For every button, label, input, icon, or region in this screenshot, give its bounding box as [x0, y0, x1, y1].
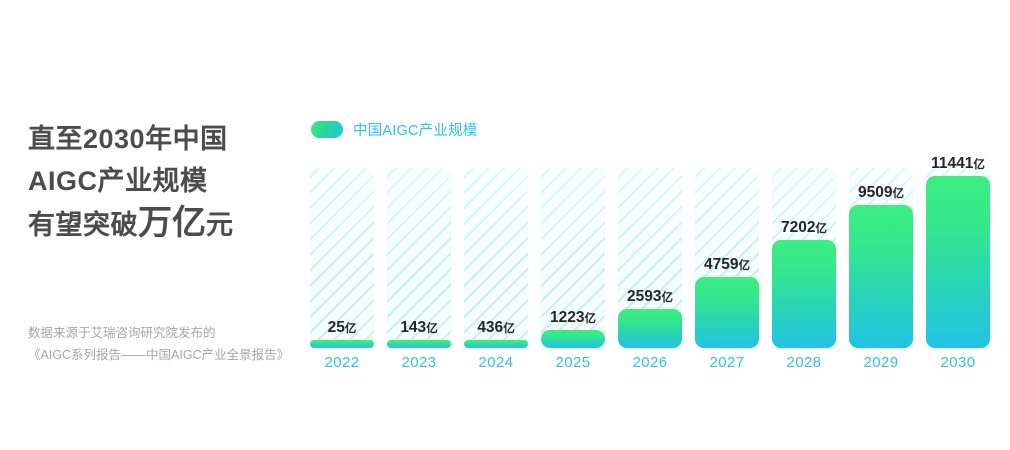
bar-value-number: 25 [328, 319, 345, 336]
legend-label: 中国AIGC产业规模 [353, 119, 477, 140]
headline-line-2: AIGC产业规模 [28, 160, 298, 202]
legend-swatch-icon [311, 121, 343, 138]
bar-value-number: 436 [477, 319, 503, 336]
bar-value-number: 9509 [858, 184, 892, 201]
bar-value-label: 2593亿 [618, 288, 682, 306]
bar-column[interactable]: 143亿2023 [387, 168, 451, 348]
bar-column[interactable]: 1223亿2025 [541, 168, 605, 348]
bar-value-label: 25亿 [310, 319, 374, 337]
bar-fill[interactable] [387, 340, 451, 348]
bar-value-unit: 亿 [973, 159, 985, 171]
bar-column[interactable]: 11441亿2030 [926, 168, 990, 348]
bar-value-number: 7202 [781, 219, 815, 236]
bar-value-label: 7202亿 [772, 219, 836, 237]
bar-fill[interactable] [541, 330, 605, 348]
bar-column[interactable]: 9509亿2029 [849, 168, 913, 348]
bar-column[interactable]: 436亿2024 [464, 168, 528, 348]
bar-value-unit: 亿 [738, 260, 750, 272]
bar-value-label: 143亿 [387, 319, 451, 337]
bar-value-label: 11441亿 [926, 155, 990, 173]
bar-value-label: 9509亿 [849, 184, 913, 202]
infographic-canvas: 直至2030年中国 AIGC产业规模 有望突破万亿元 数据来源于艾瑞咨询研究院发… [0, 0, 1010, 450]
bar-value-number: 2593 [627, 288, 661, 305]
source-line-1: 数据来源于艾瑞咨询研究院发布的 [28, 322, 308, 344]
bar-value-label: 436亿 [464, 319, 528, 337]
bar-column[interactable]: 25亿2022 [310, 168, 374, 348]
x-axis-year-label: 2028 [772, 354, 836, 371]
headline-suffix: 元 [206, 210, 234, 240]
bar-value-unit: 亿 [503, 323, 515, 335]
x-axis-year-label: 2029 [849, 354, 913, 371]
bar-fill[interactable] [849, 205, 913, 348]
bar-column[interactable]: 7202亿2028 [772, 168, 836, 348]
page-title: 直至2030年中国 AIGC产业规模 有望突破万亿元 [28, 118, 298, 246]
source-line-2: 《AIGC系列报告——中国AIGC产业全景报告》 [28, 344, 308, 366]
bar-value-unit: 亿 [892, 188, 904, 200]
x-axis-year-label: 2025 [541, 354, 605, 371]
source-note: 数据来源于艾瑞咨询研究院发布的 《AIGC系列报告——中国AIGC产业全景报告》 [28, 322, 308, 366]
bar-fill[interactable] [695, 277, 759, 348]
x-axis-year-label: 2027 [695, 354, 759, 371]
bar-chart-plot: 25亿2022143亿2023436亿20241223亿20252593亿202… [310, 168, 990, 348]
bar-fill[interactable] [772, 240, 836, 348]
bar-value-number: 1223 [550, 309, 584, 326]
headline-line-1: 直至2030年中国 [28, 118, 298, 160]
bar-value-unit: 亿 [426, 323, 438, 335]
headline-prefix: 有望突破 [28, 210, 138, 240]
bar-value-number: 11441 [931, 155, 973, 172]
bar-value-number: 4759 [704, 256, 738, 273]
chart-legend: 中国AIGC产业规模 [311, 119, 477, 140]
bar-value-unit: 亿 [584, 313, 596, 325]
bar-column[interactable]: 4759亿2027 [695, 168, 759, 348]
bar-value-unit: 亿 [661, 292, 673, 304]
x-axis-year-label: 2024 [464, 354, 528, 371]
x-axis-year-label: 2023 [387, 354, 451, 371]
bar-fill[interactable] [926, 176, 990, 348]
headline-emphasis: 万亿 [138, 204, 206, 242]
bar-fill[interactable] [310, 340, 374, 348]
bar-value-label: 4759亿 [695, 256, 759, 274]
x-axis-year-label: 2022 [310, 354, 374, 371]
x-axis-year-label: 2026 [618, 354, 682, 371]
bar-value-unit: 亿 [345, 323, 357, 335]
x-axis-year-label: 2030 [926, 354, 990, 371]
bar-fill[interactable] [464, 340, 528, 348]
bar-column[interactable]: 2593亿2026 [618, 168, 682, 348]
headline-line-3: 有望突破万亿元 [28, 202, 298, 246]
bar-fill[interactable] [618, 309, 682, 348]
bar-value-label: 1223亿 [541, 309, 605, 327]
bar-value-number: 143 [400, 319, 426, 336]
bar-value-unit: 亿 [815, 223, 827, 235]
